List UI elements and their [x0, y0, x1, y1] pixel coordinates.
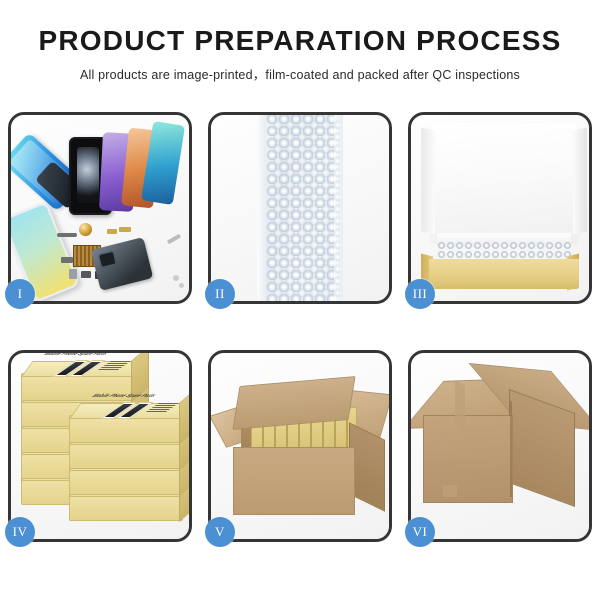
carton-tape-top — [455, 380, 465, 430]
step-panel-5: V — [208, 350, 392, 542]
step-panel-6: VI — [408, 350, 592, 542]
page-subtitle: All products are image-printed，film-coat… — [0, 64, 600, 83]
carton-tape-front-lower — [443, 485, 457, 497]
page-title: PRODUCT PREPARATION PROCESS — [0, 26, 600, 57]
step-badge-6: VI — [405, 517, 435, 547]
mailer-front-icon — [429, 259, 579, 289]
box-stack-icon: Mobile Phone Spare Parts Mobile Phone Sp… — [17, 365, 189, 533]
step-panel-2: II — [208, 112, 392, 304]
step-panel-3: III — [408, 112, 592, 304]
carton-tape-front-upper — [439, 435, 451, 445]
steps-grid: I II III — [8, 112, 592, 542]
header: PRODUCT PREPARATION PROCESS All products… — [0, 0, 600, 83]
bubble-wrap-layer-icon — [437, 241, 571, 261]
step-badge-5: V — [205, 517, 235, 547]
step-image-3 — [411, 115, 589, 301]
step-image-2 — [211, 115, 389, 301]
step-image-4: Mobile Phone Spare Parts Mobile Phone Sp… — [11, 353, 189, 539]
carton-front-panel — [233, 447, 355, 515]
step-image-1 — [11, 115, 189, 301]
step-panel-4: Mobile Phone Spare Parts Mobile Phone Sp… — [8, 350, 192, 542]
sealed-carton-front — [423, 415, 513, 503]
step-image-5 — [211, 353, 389, 539]
product-preparation-infographic: PRODUCT PREPARATION PROCESS All products… — [0, 0, 600, 600]
step-badge-3: III — [405, 279, 435, 309]
step-panel-1: I — [8, 112, 192, 304]
step-image-6 — [411, 353, 589, 539]
mailer-lid-icon — [431, 123, 577, 241]
bubble-wrap-pouch-icon — [257, 115, 343, 301]
step-badge-4: IV — [5, 517, 35, 547]
carton-edge-seam — [510, 401, 512, 497]
step-badge-1: I — [5, 279, 35, 309]
step-badge-2: II — [205, 279, 235, 309]
